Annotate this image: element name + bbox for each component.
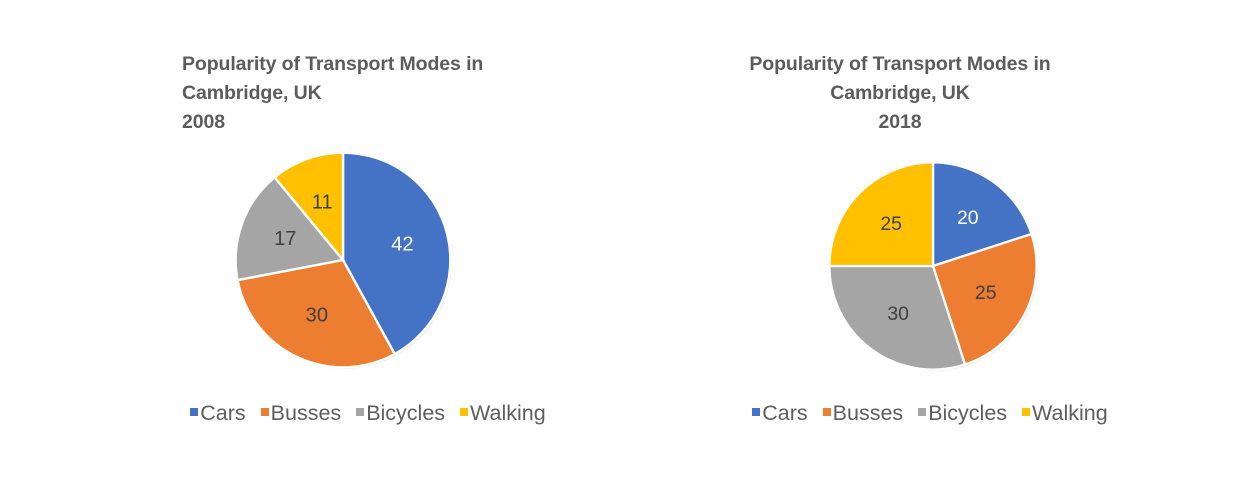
- pie-graphic-2018: 20253025: [822, 155, 1044, 377]
- legend-item-walking[interactable]: Walking: [460, 403, 546, 425]
- chart-title-2018: Popularity of Transport Modes in Cambrid…: [690, 50, 1110, 137]
- pie-slice-label-bicycles: 30: [887, 303, 909, 325]
- legend-label-cars: Cars: [200, 403, 245, 425]
- legend-label-walking: Walking: [1032, 403, 1108, 425]
- pie-slice-label-walking: 11: [312, 191, 333, 213]
- legend-item-busses[interactable]: Busses: [261, 403, 342, 425]
- legend-label-busses: Busses: [833, 403, 904, 425]
- pie-slice-label-bicycles: 17: [274, 228, 296, 250]
- legend-item-cars[interactable]: Cars: [752, 403, 807, 425]
- slide-canvas: Popularity of Transport Modes in Cambrid…: [0, 0, 1248, 479]
- chart-title-2008: Popularity of Transport Modes in Cambrid…: [140, 50, 560, 137]
- legend-label-busses: Busses: [271, 403, 342, 425]
- legend-item-bicycles[interactable]: Bicycles: [918, 403, 1007, 425]
- pie-slice-label-cars: 42: [391, 234, 413, 256]
- pie-slice-label-cars: 20: [957, 207, 979, 229]
- legend-label-bicycles: Bicycles: [366, 403, 445, 425]
- legend-swatch-icon-bicycles: [918, 408, 926, 416]
- pie-slice-label-busses: 25: [975, 282, 997, 304]
- pie-graphic-2008: 42301711: [228, 145, 458, 375]
- legend-swatch-icon-bicycles: [356, 408, 364, 416]
- legend-swatch-icon-cars: [190, 408, 198, 416]
- legend-item-cars[interactable]: Cars: [190, 403, 245, 425]
- legend-swatch-icon-busses: [261, 408, 269, 416]
- pie-chart-2018: Popularity of Transport Modes in Cambrid…: [690, 0, 1150, 479]
- pie-slice-label-walking: 25: [880, 213, 902, 235]
- legend-item-bicycles[interactable]: Bicycles: [356, 403, 445, 425]
- legend-label-walking: Walking: [470, 403, 546, 425]
- pie-chart-2008: Popularity of Transport Modes in Cambrid…: [140, 0, 600, 479]
- legend-label-bicycles: Bicycles: [928, 403, 1007, 425]
- legend-item-walking[interactable]: Walking: [1022, 403, 1108, 425]
- legend-label-cars: Cars: [762, 403, 807, 425]
- legend-swatch-icon-walking: [460, 408, 468, 416]
- legend-swatch-icon-cars: [752, 408, 760, 416]
- legend-2018: CarsBussesBicyclesWalking: [700, 403, 1160, 425]
- legend-swatch-icon-busses: [823, 408, 831, 416]
- pie-slice-label-busses: 30: [306, 304, 328, 326]
- legend-swatch-icon-walking: [1022, 408, 1030, 416]
- pie-svg-2018: 20253025: [822, 155, 1044, 377]
- legend-2008: CarsBussesBicyclesWalking: [138, 403, 598, 425]
- legend-item-busses[interactable]: Busses: [823, 403, 904, 425]
- pie-svg-2008: 42301711: [228, 145, 458, 375]
